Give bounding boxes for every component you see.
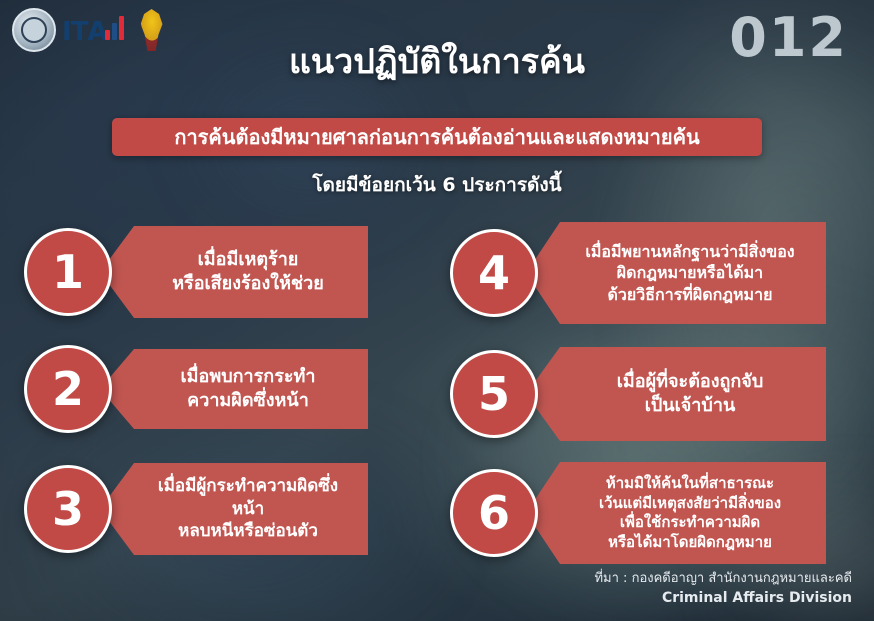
list-item: 2 เมื่อพบการกระทำ ความผิดซึ่งหน้า	[24, 345, 368, 433]
item-number-badge: 4	[450, 229, 538, 317]
source-credit: ที่มา : กองคดีอาญา สำนักงานกฎหมายและคดี …	[594, 569, 852, 610]
item-arrow-panel: เมื่อผู้ที่จะต้องถูกจับ เป็นเจ้าบ้าน	[526, 347, 826, 441]
item-arrow-panel: เมื่อมีพยานหลักฐานว่ามีสิ่งของ ผิดกฎหมาย…	[526, 222, 826, 324]
item-arrow-panel: เมื่อพบการกระทำ ความผิดซึ่งหน้า	[100, 349, 368, 429]
item-arrow-panel: เมื่อมีผู้กระทำความผิดซึ่งหน้า หลบหนีหรื…	[100, 463, 368, 555]
item-text: เมื่อมีพยานหลักฐานว่ามีสิ่งของ ผิดกฎหมาย…	[541, 241, 810, 306]
item-arrow-panel: เมื่อมีเหตุร้าย หรือเสียงร้องให้ช่วย	[100, 226, 368, 318]
item-text: เมื่อมีเหตุร้าย หรือเสียงร้องให้ช่วย	[128, 248, 340, 297]
source-line-1: ที่มา : กองคดีอาญา สำนักงานกฎหมายและคดี	[594, 569, 852, 589]
list-item: 6 ห้ามมิให้ค้นในที่สาธารณะ เว้นแต่มีเหตุ…	[450, 462, 826, 564]
item-number-badge: 6	[450, 469, 538, 557]
list-item: 1 เมื่อมีเหตุร้าย หรือเสียงร้องให้ช่วย	[24, 226, 368, 318]
list-item: 5 เมื่อผู้ที่จะต้องถูกจับ เป็นเจ้าบ้าน	[450, 347, 826, 441]
banner-text: การค้นต้องมีหมายศาลก่อนการค้นต้องอ่านและ…	[174, 121, 699, 153]
item-text: เมื่อผู้ที่จะต้องถูกจับ เป็นเจ้าบ้าน	[573, 370, 780, 419]
item-number-badge: 5	[450, 350, 538, 438]
list-item: 4 เมื่อมีพยานหลักฐานว่ามีสิ่งของ ผิดกฎหม…	[450, 222, 826, 324]
list-item: 3 เมื่อมีผู้กระทำความผิดซึ่งหน้า หลบหนีห…	[24, 463, 368, 555]
item-number-badge: 3	[24, 465, 112, 553]
item-number-badge: 1	[24, 228, 112, 316]
page-title: แนวปฏิบัติในการค้น	[0, 34, 874, 88]
item-text: เมื่อมีผู้กระทำความผิดซึ่งหน้า หลบหนีหรื…	[100, 475, 368, 544]
item-number-badge: 2	[24, 345, 112, 433]
item-text: เมื่อพบการกระทำ ความผิดซึ่งหน้า	[137, 365, 332, 414]
subtitle: โดยมีข้อยกเว้น 6 ประการดังนี้	[0, 170, 874, 200]
item-text: ห้ามมิให้ค้นในที่สาธารณะ เว้นแต่มีเหตุสง…	[555, 474, 797, 552]
banner-bar: การค้นต้องมีหมายศาลก่อนการค้นต้องอ่านและ…	[112, 118, 762, 156]
slide-root: I T A 012 แนวปฏิบัติในการค้น การค้นต้องม…	[0, 0, 874, 621]
item-arrow-panel: ห้ามมิให้ค้นในที่สาธารณะ เว้นแต่มีเหตุสง…	[526, 462, 826, 564]
source-line-2: Criminal Affairs Division	[594, 588, 852, 609]
